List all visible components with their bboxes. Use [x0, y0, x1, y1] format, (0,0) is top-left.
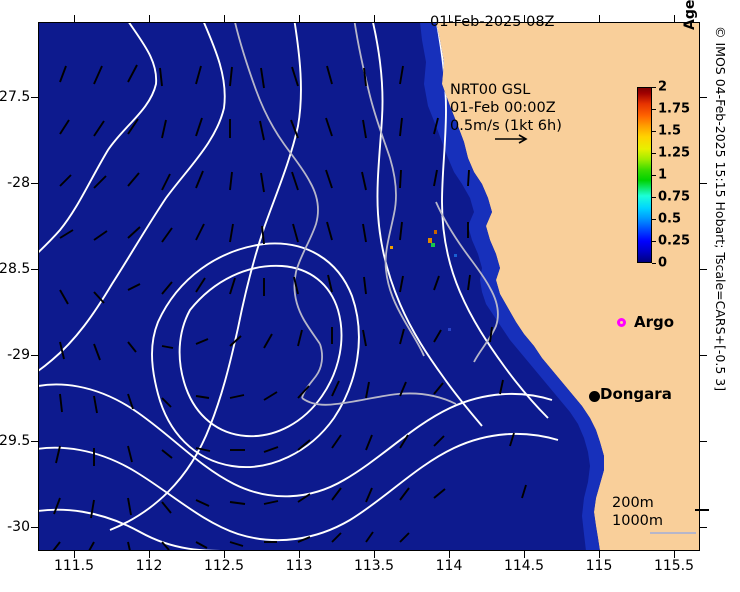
aged-pixel: [454, 254, 457, 257]
x-tick: [449, 551, 450, 558]
y-tick: [31, 269, 38, 270]
y-tick-right: [700, 269, 707, 270]
x-tick-top: [674, 15, 675, 22]
aged-pixel: [390, 246, 393, 249]
x-axis-label: 114.5: [494, 558, 554, 574]
map-canvas: [38, 22, 700, 551]
y-tick-right: [700, 355, 707, 356]
colorbar[interactable]: [637, 87, 652, 263]
credit-text: © IMOS 04-Feb-2025 15:15 Hobart; Tscale=…: [713, 26, 728, 586]
colorbar-label-025: 0.25: [658, 234, 690, 249]
depth-legend-200m: 200m: [612, 495, 654, 511]
colorbar-label-0: 0: [658, 256, 667, 271]
colorbar-label-1: 1: [658, 168, 667, 183]
x-axis-label: 114: [419, 558, 479, 574]
aged-pixel: [431, 243, 435, 247]
y-tick: [31, 355, 38, 356]
right-arrow-icon: [493, 132, 533, 146]
colorbar-tick: [652, 153, 656, 154]
colorbar-label-2: 2: [658, 80, 667, 95]
depth-legend-line-200m: [695, 509, 709, 511]
y-tick-right: [700, 441, 707, 442]
y-tick: [31, 97, 38, 98]
x-axis-label: 111.5: [44, 558, 104, 574]
y-axis-label: -30: [0, 519, 30, 535]
x-tick-top: [299, 15, 300, 22]
y-axis-label: -29: [0, 347, 30, 363]
x-tick-top: [449, 15, 450, 22]
colorbar-tick: [652, 131, 656, 132]
x-tick: [524, 551, 525, 558]
x-axis-label: 112.5: [194, 558, 254, 574]
aged-pixel: [434, 230, 437, 234]
colorbar-label-175: 1.75: [658, 102, 690, 117]
argo-marker-icon[interactable]: [617, 318, 626, 327]
colorbar-tick: [652, 241, 656, 242]
x-tick: [374, 551, 375, 558]
x-tick-top: [374, 15, 375, 22]
x-axis-label: 115.5: [644, 558, 704, 574]
colorbar-label-075: 0.75: [658, 190, 690, 205]
x-tick-top: [599, 15, 600, 22]
x-tick: [224, 551, 225, 558]
depth-legend-1000m: 1000m: [612, 513, 663, 529]
colorbar-tick: [652, 109, 656, 110]
argo-label: Argo: [634, 313, 674, 331]
dongara-marker-icon[interactable]: [589, 391, 600, 402]
colorbar-title: Age (days) of filled SST (wrt latest): [682, 0, 698, 30]
x-tick: [599, 551, 600, 558]
x-tick-top: [149, 15, 150, 22]
x-tick: [299, 551, 300, 558]
map-plot-area[interactable]: [38, 22, 700, 551]
colorbar-label-125: 1.25: [658, 146, 690, 161]
colorbar-label-15: 1.5: [658, 124, 681, 139]
colorbar-tick: [652, 197, 656, 198]
colorbar-tick: [652, 87, 656, 88]
y-tick-right: [700, 183, 707, 184]
ocean-map-figure: 01-Feb-2025 08Z NRT00 GSL 01-Feb 00:00Z …: [0, 0, 740, 592]
aged-pixel: [448, 328, 451, 331]
x-tick: [674, 551, 675, 558]
y-tick: [31, 441, 38, 442]
colorbar-tick: [652, 175, 656, 176]
x-tick-top: [524, 15, 525, 22]
x-tick-top: [224, 15, 225, 22]
y-axis-label: -27.5: [0, 89, 30, 105]
x-tick: [149, 551, 150, 558]
colorbar-tick: [652, 219, 656, 220]
y-tick-right: [700, 97, 707, 98]
y-axis-label: -28: [0, 175, 30, 191]
y-tick-right: [700, 527, 707, 528]
aged-pixel: [428, 238, 432, 243]
y-tick: [31, 527, 38, 528]
vector-legend-line2: 01-Feb 00:00Z: [450, 100, 556, 116]
x-tick: [74, 551, 75, 558]
depth-legend-line-1000m: [650, 532, 696, 534]
dongara-label: Dongara: [600, 385, 672, 403]
x-axis-label: 115: [569, 558, 629, 574]
y-tick: [31, 183, 38, 184]
x-axis-label: 113: [269, 558, 329, 574]
y-axis-label: -28.5: [0, 261, 30, 277]
x-axis-label: 113.5: [344, 558, 404, 574]
colorbar-label-05: 0.5: [658, 212, 681, 227]
y-axis-label: -29.5: [0, 433, 30, 449]
colorbar-tick: [652, 263, 656, 264]
x-tick-top: [74, 15, 75, 22]
x-axis-label: 112: [119, 558, 179, 574]
vector-legend-line1: NRT00 GSL: [450, 82, 530, 98]
